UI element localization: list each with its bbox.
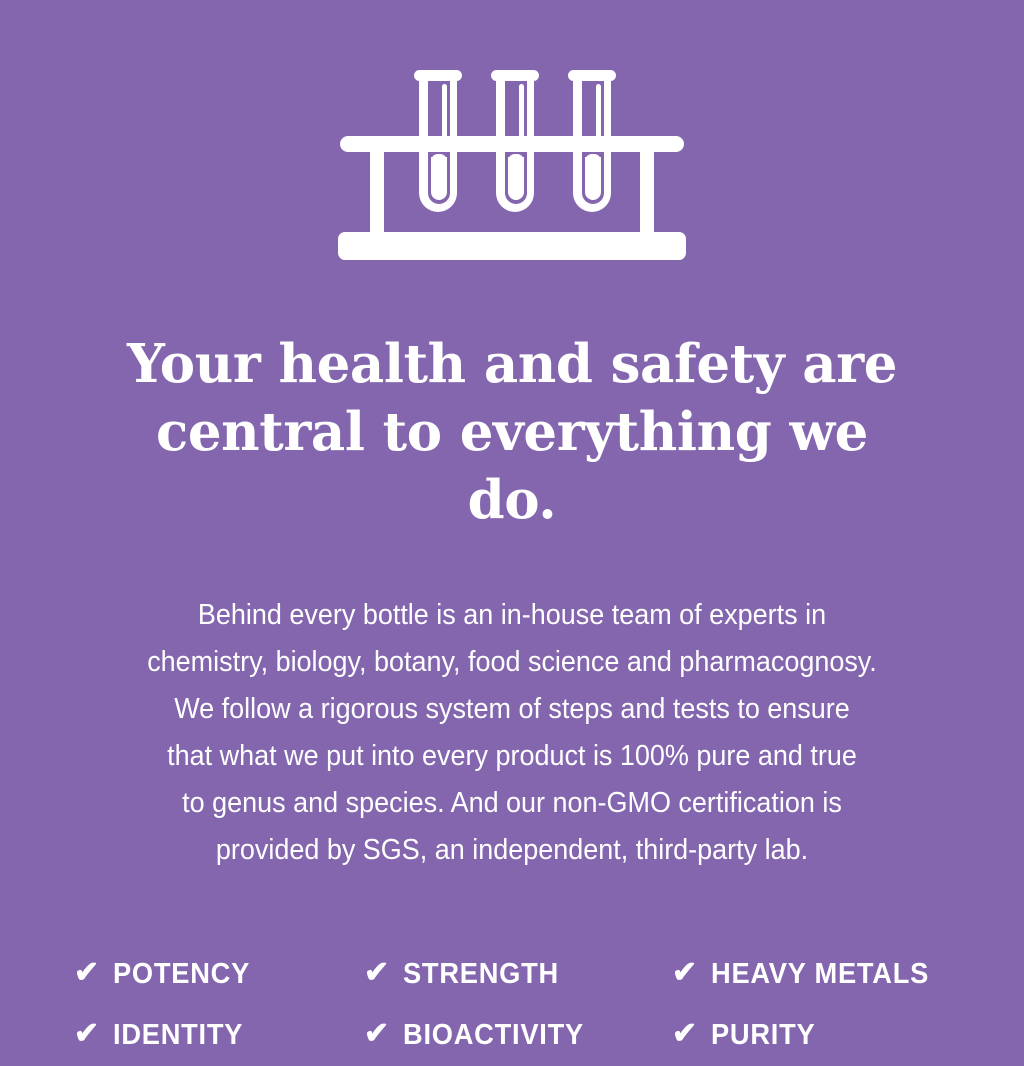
checklist-label: BIOACTIVITY [403,1019,584,1052]
checklist-label: PURITY [711,1019,815,1052]
check-icon: ✔ [74,958,99,988]
body-line-1: Behind every bottle is an in-house team … [107,592,916,639]
checklist-item-potency: ✔ POTENCY [74,958,364,991]
checklist-item-strength: ✔ STRENGTH [364,958,672,991]
page-title: Your health and safety are central to ev… [112,330,912,534]
checklist-label: POTENCY [113,958,250,991]
headline-line-1: Your health and safety are [112,330,912,398]
rack-top-rail [340,136,684,152]
body-line-3: We follow a rigorous system of steps and… [107,686,916,733]
checklist-label: IDENTITY [113,1019,243,1052]
body-line-6: provided by SGS, an independent, third-p… [107,827,916,874]
quality-promise-card: Your health and safety are central to ev… [0,0,1024,1024]
checklist-item-purity: ✔ PURITY [672,1019,950,1052]
headline-line-2: central to everything we do. [112,398,912,534]
test-tube-rack-icon [327,62,697,262]
body-line-2: chemistry, biology, botany, food science… [107,639,916,686]
checklist-item-bioactivity: ✔ BIOACTIVITY [364,1019,672,1052]
check-icon: ✔ [364,958,389,988]
rack-left-leg [370,148,384,234]
checklist-item-identity: ✔ IDENTITY [74,1019,364,1052]
rack-base [338,232,686,260]
checklist-item-heavy-metals: ✔ HEAVY METALS [672,958,950,991]
test-checklist: ✔ POTENCY ✔ STRENGTH ✔ HEAVY METALS ✔ ID… [74,944,950,1066]
checklist-label: HEAVY METALS [711,958,929,991]
body-line-4: that what we put into every product is 1… [107,733,916,780]
rack-right-leg [640,148,654,234]
check-icon: ✔ [672,958,697,988]
body-line-5: to genus and species. And our non-GMO ce… [107,780,916,827]
body-paragraph: Behind every bottle is an in-house team … [107,592,916,874]
checklist-label: STRENGTH [403,958,559,991]
